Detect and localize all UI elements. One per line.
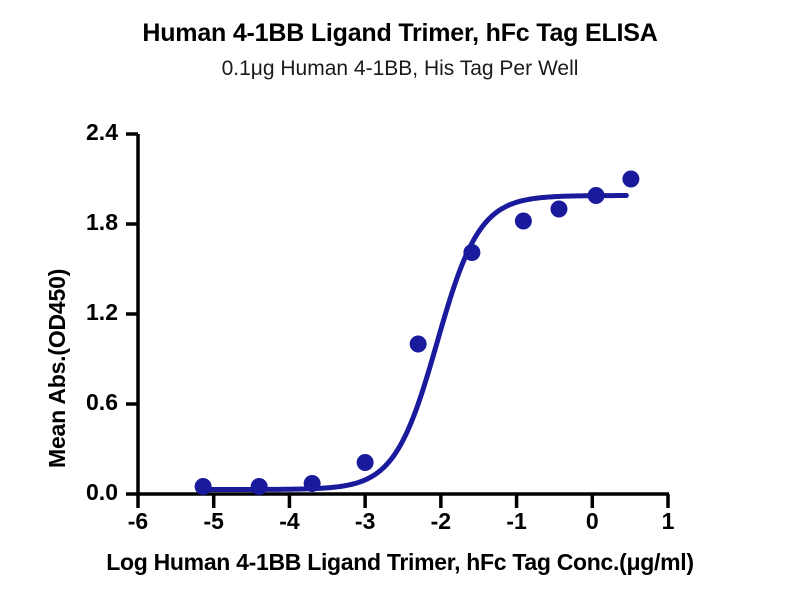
x-tick-marks — [138, 494, 668, 508]
y-tick-label: 2.4 — [48, 119, 118, 146]
x-tick-label: -3 — [345, 508, 385, 535]
x-tick-label: 1 — [648, 508, 688, 535]
data-point — [251, 478, 268, 495]
x-tick-label: -5 — [194, 508, 234, 535]
data-point — [515, 213, 532, 230]
x-tick-label: -6 — [118, 508, 158, 535]
data-point — [463, 244, 480, 261]
chart-title: Human 4-1BB Ligand Trimer, hFc Tag ELISA — [0, 19, 800, 48]
data-point — [304, 475, 321, 492]
y-tick-marks — [126, 134, 138, 494]
data-point — [550, 201, 567, 218]
x-tick-label: 0 — [572, 508, 612, 535]
chart-subtitle: 0.1μg Human 4-1BB, His Tag Per Well — [0, 57, 800, 81]
data-point — [357, 454, 374, 471]
y-tick-label: 0.0 — [48, 479, 118, 506]
y-tick-label: 1.8 — [48, 209, 118, 236]
x-tick-label: -2 — [421, 508, 461, 535]
y-tick-label: 0.6 — [48, 389, 118, 416]
data-point — [622, 171, 639, 188]
elisa-chart-figure: Human 4-1BB Ligand Trimer, hFc Tag ELISA… — [0, 0, 800, 600]
data-point — [588, 187, 605, 204]
data-point — [195, 478, 212, 495]
x-axis-label: Log Human 4-1BB Ligand Trimer, hFc Tag C… — [0, 549, 800, 576]
data-point — [410, 336, 427, 353]
y-tick-label: 1.2 — [48, 299, 118, 326]
x-tick-label: -1 — [497, 508, 537, 535]
x-tick-label: -4 — [269, 508, 309, 535]
data-point-group — [195, 171, 640, 496]
